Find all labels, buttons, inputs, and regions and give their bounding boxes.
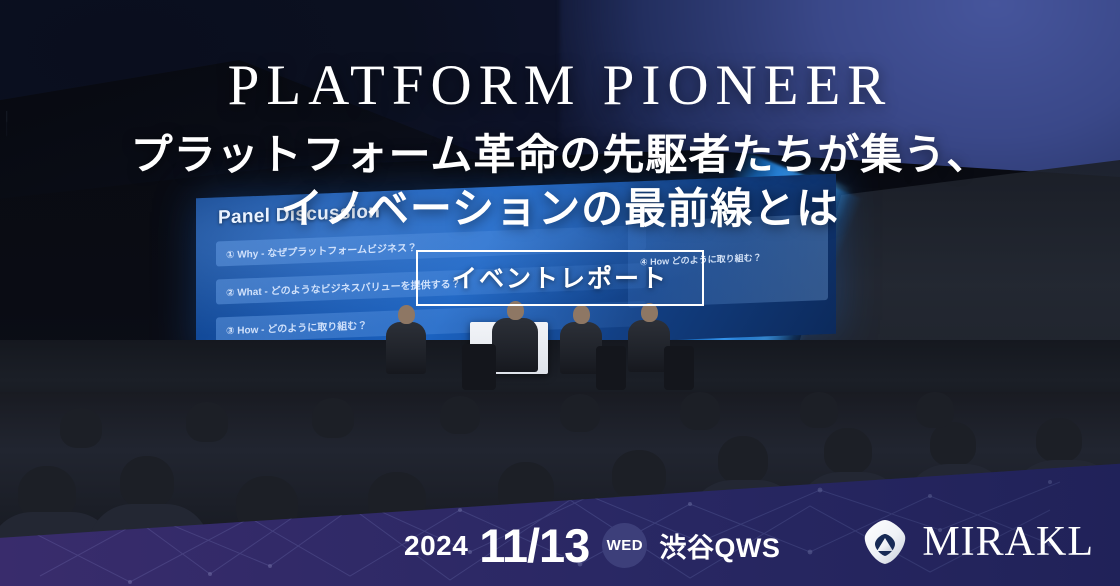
stage-chair: [462, 344, 496, 390]
event-day-of-week: WED: [602, 523, 647, 568]
audience-head: [560, 394, 600, 432]
audience-head: [60, 408, 102, 448]
screen-bullet-3-text: ③ How - どのように取り組む？: [226, 317, 367, 337]
event-report-badge: イベントレポート: [416, 250, 704, 306]
audience-head: [800, 392, 838, 428]
audience-head: [312, 398, 354, 438]
audience-head: [930, 422, 976, 466]
event-banner: Panel Discussion ① Why - なぜプラットフォームビジネス？…: [0, 0, 1120, 586]
event-venue: 渋谷QWS: [659, 526, 780, 565]
brand-logo: MIRAKL: [860, 517, 1094, 567]
subtitle-line-2: イノベーションの最前線とは: [0, 185, 1120, 233]
audience-head: [186, 402, 228, 442]
screen-bullet-1-text: ① Why - なぜプラットフォームビジネス？: [226, 239, 417, 261]
brand-name: MIRAKL: [922, 521, 1094, 563]
audience-head: [916, 392, 954, 428]
event-month-day: 11/13: [479, 524, 589, 567]
audience-head: [824, 428, 872, 474]
audience-head: [1036, 418, 1082, 462]
audience-head: [120, 456, 174, 508]
page-title: PLATFORM PIONEER: [0, 57, 1120, 114]
event-date-row: 2024 11/13 WED 渋谷QWS: [404, 523, 780, 568]
audience-head: [718, 436, 768, 484]
audience-head: [440, 396, 480, 434]
stage-chair: [596, 346, 626, 390]
audience-head: [612, 450, 666, 500]
stage-chair: [664, 346, 694, 390]
subtitle-line-1: プラットフォーム革命の先駆者たちが集う、: [0, 131, 1120, 179]
panelist: [386, 322, 426, 374]
mirakl-shield-icon: [860, 517, 910, 567]
audience-head: [680, 392, 720, 430]
panelist: [492, 318, 538, 372]
event-year: 2024: [404, 530, 468, 562]
